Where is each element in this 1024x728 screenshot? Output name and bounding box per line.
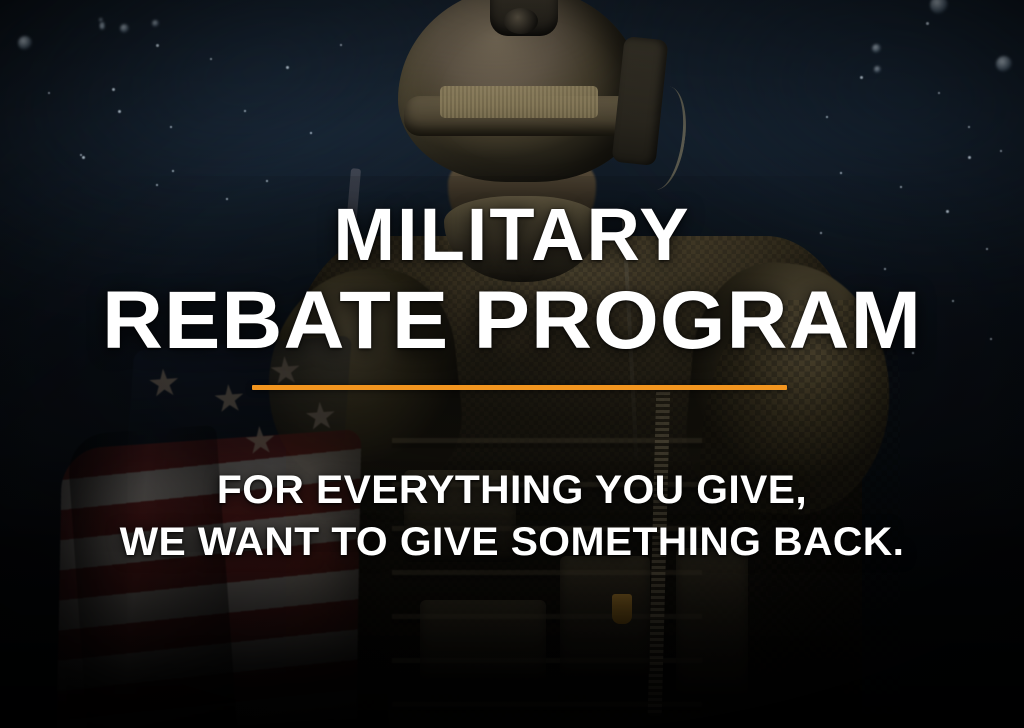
military-rebate-hero-banner: MILITARY REBATE PROGRAM FOR EVERYTHING Y…	[0, 0, 1024, 728]
hero-content: MILITARY REBATE PROGRAM FOR EVERYTHING Y…	[0, 0, 1024, 728]
headline-line-2: REBATE PROGRAM	[0, 282, 1024, 360]
subheadline-line-1: FOR EVERYTHING YOU GIVE,	[0, 470, 1024, 510]
subheadline-line-2: WE WANT TO GIVE SOMETHING BACK.	[0, 522, 1024, 562]
headline-line-1: MILITARY	[0, 200, 1024, 270]
orange-divider-rule	[252, 385, 787, 390]
